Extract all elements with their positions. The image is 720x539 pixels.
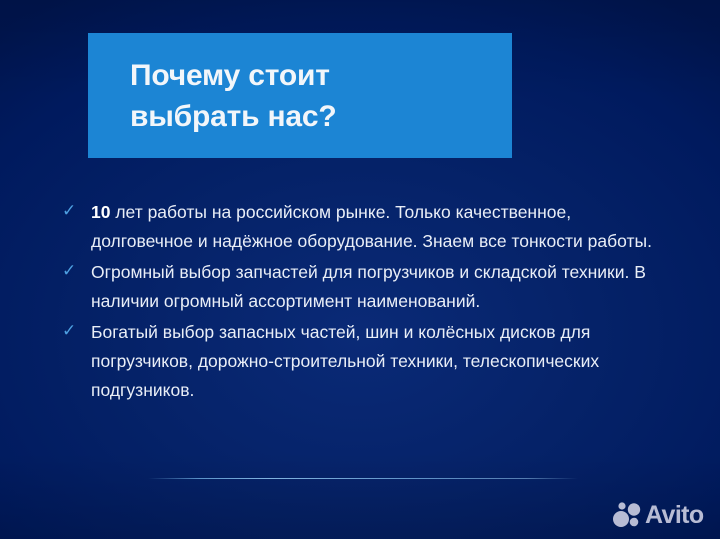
slide-canvas: Почему стоит выбрать нас? ✓ 10 лет работ… [0,0,720,539]
checkmark-icon: ✓ [62,258,82,280]
list-item-text: лет работы на российском рынке. Только к… [91,202,652,251]
avito-wordmark: Avito [645,501,704,529]
title-banner: Почему стоит выбрать нас? [88,33,512,158]
page-title: Почему стоит выбрать нас? [130,55,498,137]
list-item: ✓ 10 лет работы на российском рынке. Тол… [62,198,674,255]
avito-watermark: Avito [612,498,704,532]
checkmark-icon: ✓ [62,198,82,220]
checkmark-icon: ✓ [62,318,82,340]
list-item-text: Богатый выбор запасных частей, шин и кол… [91,322,599,399]
list-item: ✓ Богатый выбор запасных частей, шин и к… [62,318,674,404]
list-item: ✓ Огромный выбор запчастей для погрузчик… [62,258,674,315]
avito-dots-icon [612,501,642,529]
list-item-text: Огромный выбор запчастей для погрузчиков… [91,262,646,311]
benefits-list: ✓ 10 лет работы на российском рынке. Тол… [62,198,674,407]
list-item-lead: 10 [91,202,110,222]
section-divider [148,478,578,479]
